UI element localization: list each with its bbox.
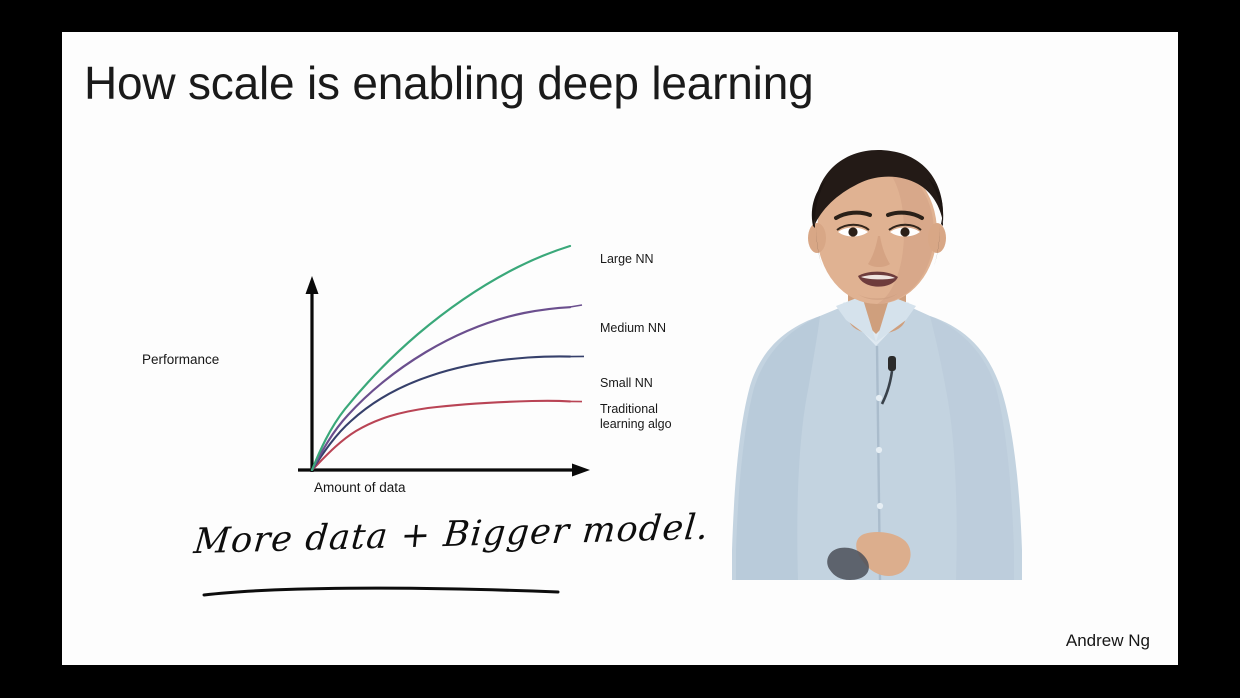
series-label-traditional-line2: learning algo bbox=[600, 417, 672, 431]
series-label-traditional: Traditional learning algo bbox=[600, 402, 696, 432]
page-title: How scale is enabling deep learning bbox=[84, 56, 813, 110]
chart-axes bbox=[298, 276, 590, 477]
slide-canvas: How scale is enabling deep learning bbox=[62, 32, 1178, 665]
series-label-medium-nn: Medium NN bbox=[600, 321, 666, 336]
video-frame: How scale is enabling deep learning bbox=[0, 0, 1240, 698]
series-label-traditional-line1: Traditional bbox=[600, 402, 658, 416]
series-end-markers bbox=[570, 305, 584, 402]
series-label-small-nn: Small NN bbox=[600, 376, 653, 391]
series-label-large-nn: Large NN bbox=[600, 252, 654, 267]
handwritten-note-text: More data + Bigger model. bbox=[192, 508, 711, 563]
presenter-illustration bbox=[712, 120, 1042, 580]
handwritten-underline bbox=[202, 584, 562, 600]
chart-figure: Performance Amount of data Large NN Medi… bbox=[142, 210, 702, 510]
series-line-medium bbox=[312, 307, 570, 470]
handwritten-annotation: More data + Bigger model. bbox=[196, 522, 616, 622]
y-axis-label: Performance bbox=[142, 352, 219, 367]
x-axis-label: Amount of data bbox=[314, 480, 406, 495]
presenter-credit: Andrew Ng bbox=[1066, 631, 1150, 651]
chart-series bbox=[312, 246, 570, 470]
presenter-video bbox=[712, 120, 1042, 580]
